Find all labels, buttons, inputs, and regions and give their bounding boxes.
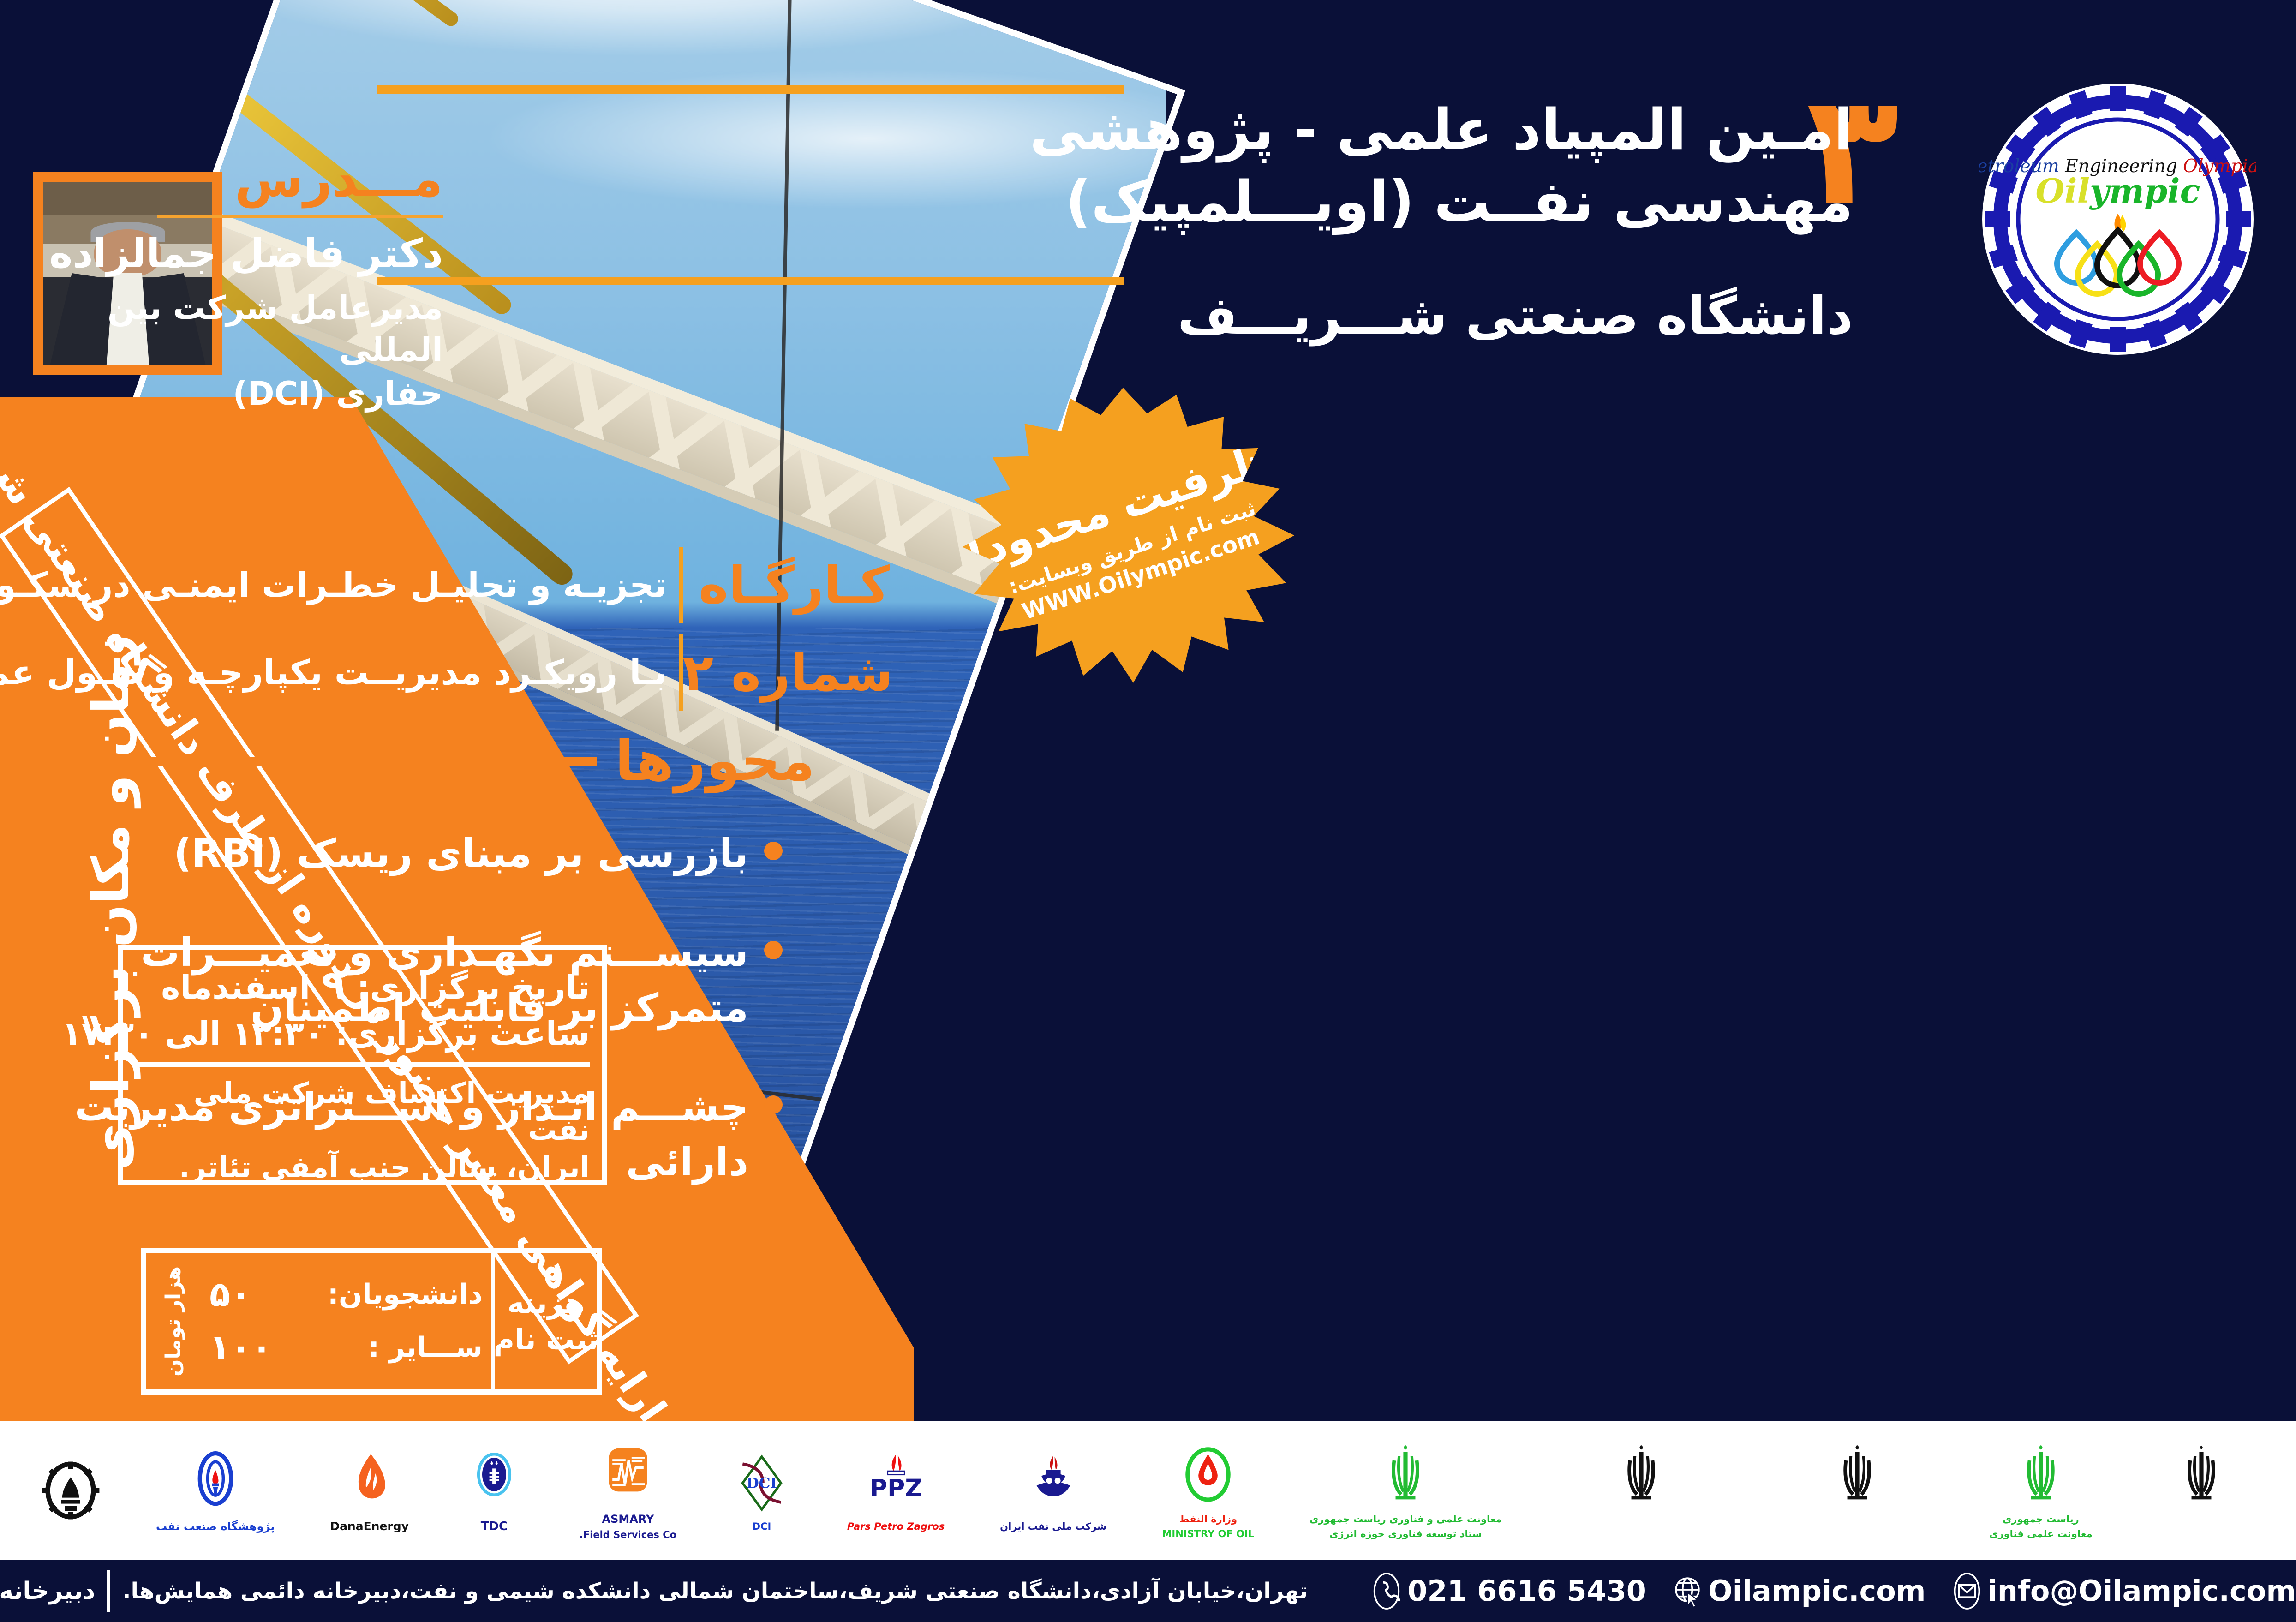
sharif-gear-icon <box>41 1456 101 1525</box>
iran-emblem-icon <box>2180 1441 2223 1510</box>
ppz-icon: PPZ <box>866 1448 926 1518</box>
workshop-divider-1 <box>679 547 683 623</box>
topics-heading-row: محورها <box>61 729 815 793</box>
globe-icon <box>1673 1572 1702 1610</box>
workshop-row-2: شماره ۲ بـا رویکـرد مدیریــت یکپارچـه و … <box>0 634 893 711</box>
envelope-icon <box>1953 1572 1981 1610</box>
fee-row-students: دانشجویان: ۵۰ <box>209 1268 483 1321</box>
sponsor-bar: جمهوری اسلامی ایران وزارت نفت ریاست جمهو… <box>0 1421 2296 1560</box>
phone-icon <box>1372 1572 1401 1610</box>
bullet-dot-icon <box>764 842 783 860</box>
footer-address: تهران،خیابان آزادی،دانشگاه صنعتی شریف،سا… <box>122 1578 1308 1604</box>
sponsor-caption-11: TDC <box>481 1519 508 1534</box>
asmary-icon <box>598 1440 658 1509</box>
topics-heading: محورها <box>615 729 815 793</box>
workshop-value-1: تجزیـه و تحلیـل خطـرات ایمنـی در سکـو هـ… <box>0 565 667 605</box>
sponsor-logo-pars-petro-zagros: PPZ Pars Petro Zagros <box>847 1421 945 1560</box>
instructor-block: مـــدرس دکتر فاضل جمالزاده مدیرعامل شرکت… <box>28 152 674 392</box>
sponsor-logo-dana-energy: DanaEnergy <box>330 1421 409 1560</box>
footer-contact-bar: info@Oilampic.com Oilampic.com <box>0 1560 2296 1622</box>
footer-website[interactable]: Oilampic.com <box>1673 1572 1926 1610</box>
topic-item: چشـــم انـداز و اســـتراتژی مدیریت دارائ… <box>35 1080 783 1190</box>
sponsor-logo-msrt: جمهوری اسلامی ایران وزارت علوم، تحقیقات … <box>1781 1421 1934 1560</box>
fee-label-line2: ثبت نام <box>494 1323 599 1356</box>
bullet-dot-icon <box>764 941 783 959</box>
oilympic-logo: Petroleum Engineering Olympiad Oilympic <box>1979 81 2256 358</box>
sponsor-caption-5b: ستاد توسعه فناوری حوزه انرژی <box>1329 1528 1482 1540</box>
fee-rows: دانشجویان: ۵۰ ســـایر : ۱۰۰ <box>201 1253 491 1389</box>
fee-other-label: ســـایر : <box>368 1326 483 1369</box>
fee-row-other: ســـایر : ۱۰۰ <box>209 1321 483 1374</box>
bullet-dot-icon <box>764 1095 783 1114</box>
sponsor-caption-8: Pars Petro Zagros <box>847 1520 945 1532</box>
dci-icon: DCI <box>732 1448 792 1518</box>
sponsor-logo-nioc: شرکت ملی نفت ایران <box>1000 1421 1106 1560</box>
sponsor-logo-moo-iran: جمهوری اسلامی ایران وزارت نفت <box>2148 1421 2256 1560</box>
instructor-role-line2: حفاری (DCI) <box>37 373 443 415</box>
workshop-key-2: شماره ۲ <box>695 643 893 702</box>
sponsor-logo-energy-tech-hq: معاونت علمی و فناوری ریاست جمهوری ستاد ت… <box>1309 1421 1502 1560</box>
workshop-divider-2 <box>679 634 683 711</box>
sponsor-logo-dci: DCI DCI <box>732 1421 792 1560</box>
footer-email[interactable]: info@Oilampic.com <box>1953 1572 2296 1610</box>
ministry-of-oil-icon <box>1178 1441 1238 1510</box>
sponsor-caption-2b: معاونت علمی فناوری <box>1989 1528 2092 1540</box>
footer-divider <box>107 1570 110 1612</box>
sponsor-caption-10b: Field Services Co. <box>580 1529 676 1541</box>
sponsor-caption-9: DCI <box>753 1520 771 1532</box>
sponsor-caption-4b: مرکز همکاری های تحول و پیشرفت <box>1557 1528 1725 1540</box>
sponsor-logo-ripi: پژوهشگاه صنعت نفت <box>156 1421 275 1560</box>
topics-list: بازرسی بر مبنای ریسک (RBI) سیســـتم نگهـ… <box>35 826 783 1234</box>
sponsor-logo-vp-science: ریاست جمهوری معاونت علمی فناوری <box>1989 1421 2092 1560</box>
sponsor-caption-1b: وزارت نفت <box>2174 1528 2229 1540</box>
topic-item: بازرسی بر مبنای ریسک (RBI) <box>35 826 783 881</box>
registration-fee-box: هزینه ثبت نام دانشجویان: ۵۰ ســـایر : ۱۰… <box>141 1248 602 1395</box>
sponsor-caption-6b: MINISTRY OF OIL <box>1162 1528 1255 1540</box>
page-title: امـین المپیاد علمی - پژوهشی مهندسی نفــت… <box>1133 97 1853 235</box>
dana-energy-flame-icon <box>340 1447 400 1516</box>
fee-students-amount: ۵۰ <box>209 1268 251 1321</box>
footer-website-text: Oilampic.com <box>1708 1574 1926 1608</box>
iran-emblem-icon <box>2020 1441 2062 1510</box>
fee-label: هزینه ثبت نام <box>491 1253 597 1389</box>
sponsor-caption-6: وزارة النفط <box>1179 1513 1237 1525</box>
sponsor-caption-13: پژوهشگاه صنعت نفت <box>156 1520 275 1533</box>
sponsor-caption-5: معاونت علمی و فناوری ریاست جمهوری <box>1309 1513 1502 1525</box>
iran-emblem-icon <box>1384 1441 1427 1510</box>
topic-text-1: بازرسی بر مبنای ریسک (RBI) <box>174 826 748 881</box>
instructor-heading: مـــدرس <box>37 152 443 207</box>
topics-heading-rule <box>61 757 597 766</box>
instructor-role-line1: مدیرعامل شرکت بین المللی <box>37 287 443 371</box>
workshop-key-1: کـارگـاه <box>695 556 893 615</box>
topic-item: سیســـتم نگهـداری و تعمیـــرات متمرکز بر… <box>35 925 783 1035</box>
footer-secretariat-label: دبیرخانه <box>0 1577 95 1605</box>
header-rule-bottom <box>377 277 1124 285</box>
sponsor-logo-ministry-of-oil: وزارة النفط MINISTRY OF OIL <box>1162 1421 1255 1560</box>
svg-text:PPZ: PPZ <box>870 1474 922 1502</box>
instructor-divider <box>157 215 443 218</box>
topic-text-2: سیســـتم نگهـداری و تعمیـــرات متمرکز بر… <box>35 925 748 1035</box>
footer-phone[interactable]: 021 6616 5430 <box>1372 1572 1646 1610</box>
fee-students-label: دانشجویان: <box>328 1273 483 1316</box>
fee-other-amount: ۱۰۰ <box>209 1321 272 1374</box>
workshop-value-2: بـا رویکـرد مدیریــت یکپارچـه و طـول عمـ… <box>0 653 667 693</box>
workshop-row-1: کـارگـاه تجزیـه و تحلیـل خطـرات ایمنـی د… <box>0 547 893 623</box>
footer-phone-text: 021 6616 5430 <box>1407 1574 1646 1608</box>
sponsor-caption-1: جمهوری اسلامی ایران <box>2148 1513 2256 1525</box>
sponsor-caption-2: ریاست جمهوری <box>2003 1513 2079 1525</box>
nioc-icon <box>1023 1448 1083 1518</box>
tdc-icon <box>464 1447 524 1516</box>
sponsor-caption-10: ASMARY <box>602 1512 654 1526</box>
sponsor-caption-7: شرکت ملی نفت ایران <box>1000 1520 1106 1532</box>
iran-emblem-icon <box>1620 1441 1662 1510</box>
sponsor-caption-3b: وزارت علوم، تحقیقات و فناوری <box>1781 1528 1934 1540</box>
ripi-icon <box>185 1448 245 1517</box>
sponsor-logo-sharif-university <box>41 1421 101 1560</box>
poster-root: با ارایه گواهی معتبر حضور در دوره از طرف… <box>0 0 2296 1622</box>
instructor-name: دکتر فاضل جمالزاده <box>37 229 443 279</box>
svg-text:Oilympic: Oilympic <box>2036 171 2200 210</box>
title-line-1: امـین المپیاد علمی - پژوهشی <box>1133 97 1853 163</box>
footer-email-text: info@Oilampic.com <box>1988 1574 2296 1608</box>
sponsor-logo-tdc: TDC <box>464 1421 524 1560</box>
sponsor-caption-4: ریاست جمهوری <box>1603 1513 1680 1525</box>
page-subtitle: دانشگاه صنعتی شـــریـــف <box>1133 286 1853 346</box>
fee-currency-unit: هزار تومان <box>146 1253 201 1389</box>
topic-text-3: چشـــم انـداز و اســـتراتژی مدیریت دارائ… <box>35 1080 748 1190</box>
title-line-2: مهندسی نفــت (اویـــلمپیک) <box>1133 169 1853 235</box>
sponsor-caption-12: DanaEnergy <box>330 1519 409 1533</box>
fee-label-line1: هزینه <box>508 1286 585 1320</box>
sponsor-logo-progress-center: ریاست جمهوری مرکز همکاری های تحول و پیشر… <box>1557 1421 1725 1560</box>
iran-emblem-icon <box>1836 1441 1878 1510</box>
sponsor-caption-3: جمهوری اسلامی ایران <box>1803 1513 1911 1525</box>
svg-text:DCI: DCI <box>747 1475 777 1491</box>
sponsor-logo-asmary: ASMARY Field Services Co. <box>580 1421 676 1560</box>
header-rule-top <box>377 85 1124 94</box>
